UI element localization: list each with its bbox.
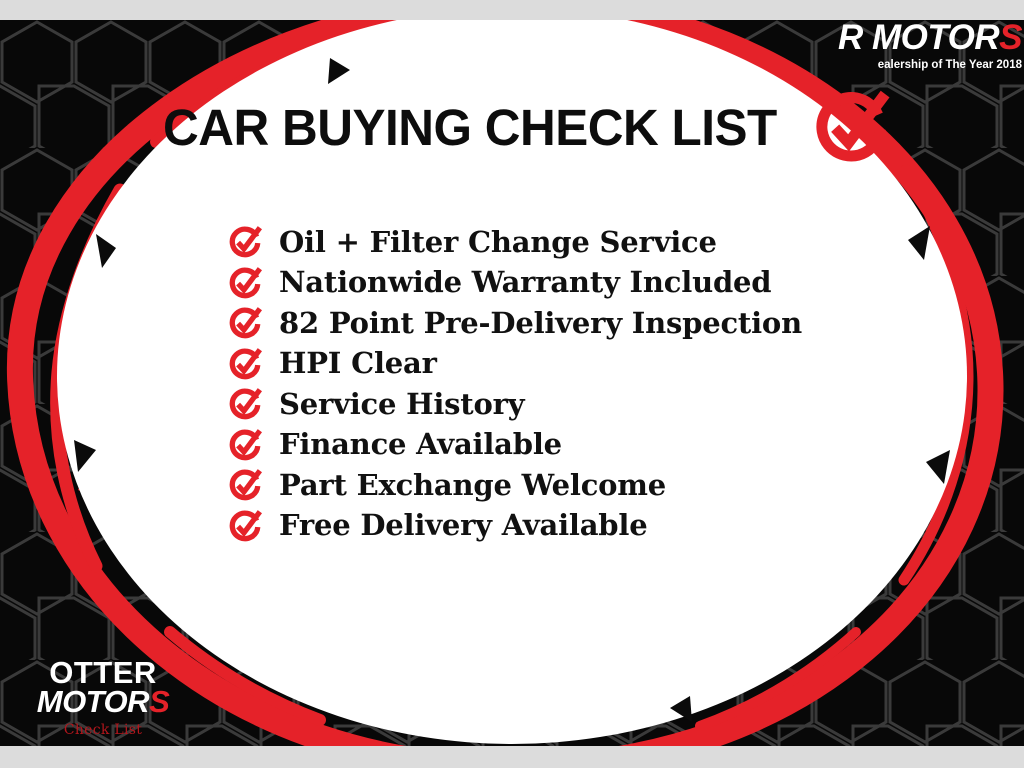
- circle-check-icon: [228, 509, 262, 543]
- circle-check-icon: [228, 225, 262, 259]
- letterbox-bar-top: [0, 0, 1024, 20]
- list-item[interactable]: HPI Clear: [228, 344, 802, 385]
- circle-check-icon: [228, 347, 262, 381]
- letterbox-bar-bottom: [0, 746, 1024, 768]
- list-item-label: Free Delivery Available: [279, 511, 647, 540]
- brand-logo-line2-accent: S: [149, 684, 169, 719]
- list-item-label: 82 Point Pre-Delivery Inspection: [279, 309, 802, 338]
- brand-logo-sublabel: Check List: [28, 722, 178, 738]
- circle-check-icon: [228, 387, 262, 421]
- watermark-logo-top-right: R MOTORS ealership of The Year 2018: [834, 20, 1024, 71]
- list-item[interactable]: Finance Available: [228, 425, 802, 466]
- watermark-wordmark: R MOTORS: [834, 20, 1022, 56]
- list-item[interactable]: Service History: [228, 384, 802, 425]
- list-item-label: Nationwide Warranty Included: [279, 268, 771, 297]
- page-title-row: CAR BUYING CHECK LIST: [163, 88, 890, 166]
- list-item[interactable]: Free Delivery Available: [228, 506, 802, 547]
- circle-check-icon: [228, 306, 262, 340]
- list-item[interactable]: 82 Point Pre-Delivery Inspection: [228, 303, 802, 344]
- brand-logo-line2-text: MOTOR: [37, 684, 149, 719]
- list-item-label: Oil + Filter Change Service: [279, 228, 717, 257]
- watermark-wordmark-text: R MOTOR: [838, 18, 999, 57]
- list-item-label: HPI Clear: [279, 349, 437, 378]
- watermark-tagline: ealership of The Year 2018: [834, 59, 1022, 71]
- list-item[interactable]: Part Exchange Welcome: [228, 465, 802, 506]
- list-item[interactable]: Nationwide Warranty Included: [228, 263, 802, 304]
- list-item-label: Service History: [279, 390, 524, 419]
- car-buying-checklist: Oil + Filter Change Service Nationwide W…: [228, 222, 802, 546]
- circle-check-icon: [228, 428, 262, 462]
- list-item-label: Part Exchange Welcome: [279, 471, 666, 500]
- circle-check-icon: [812, 88, 890, 166]
- list-item-label: Finance Available: [279, 430, 562, 459]
- watermark-wordmark-accent: S: [999, 18, 1022, 57]
- page-title: CAR BUYING CHECK LIST: [163, 102, 777, 153]
- brand-logo-bottom-left: OTTER MOTORS Check List: [28, 657, 178, 738]
- circle-check-icon: [228, 266, 262, 300]
- brand-logo-line2: MOTORS: [28, 686, 178, 719]
- circle-check-icon: [228, 468, 262, 502]
- list-item[interactable]: Oil + Filter Change Service: [228, 222, 802, 263]
- slide-canvas: CAR BUYING CHECK LIST Oil + Filter Chang…: [0, 0, 1024, 768]
- slide-content: CAR BUYING CHECK LIST Oil + Filter Chang…: [0, 0, 1024, 768]
